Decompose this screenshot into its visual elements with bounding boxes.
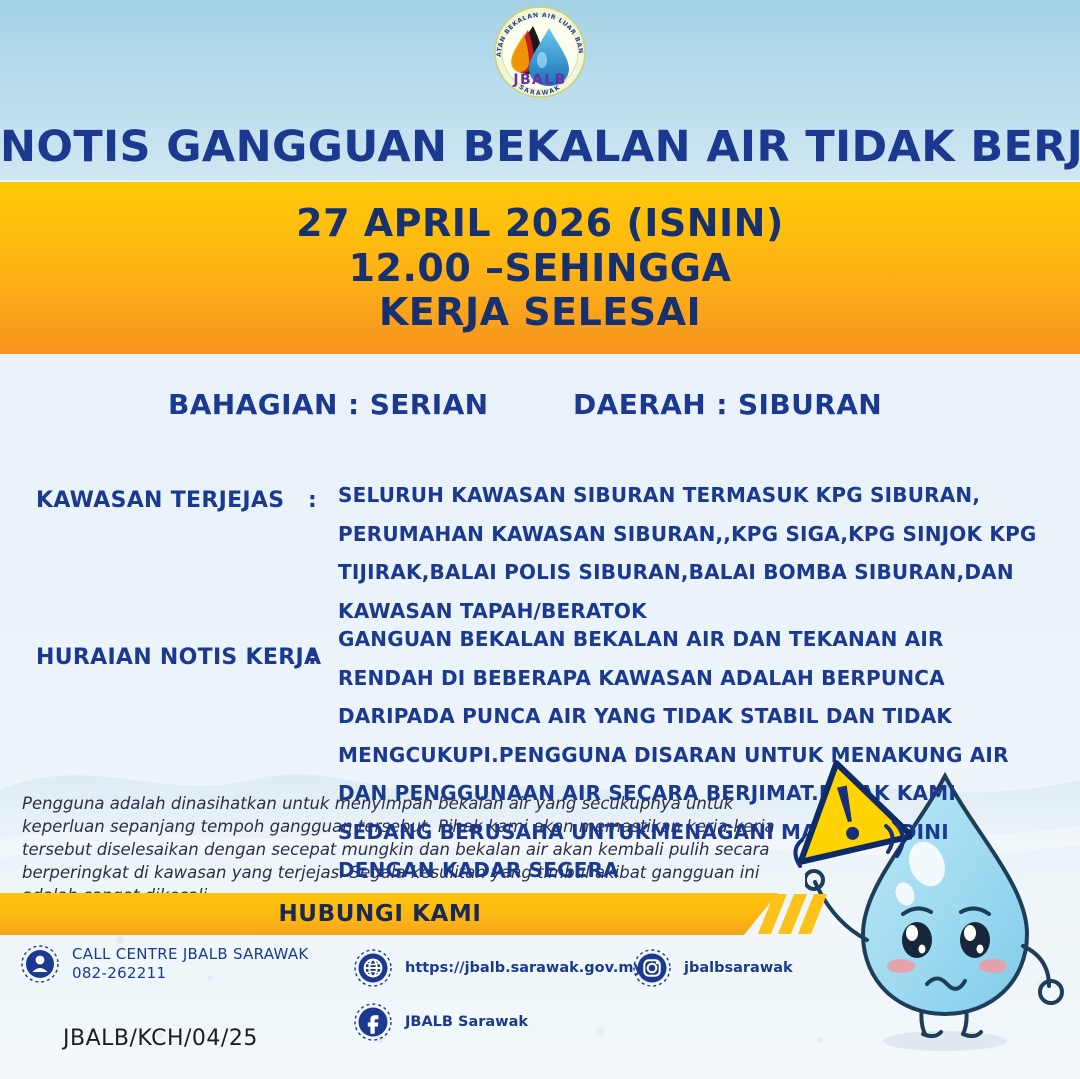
- date-line-1: 27 APRIL 2026 (ISNIN): [296, 201, 784, 246]
- instagram-icon: [632, 948, 672, 988]
- contact-facebook-text: JBALB Sarawak: [405, 1014, 528, 1030]
- contact-banner-label: HUBUNGI KAMI: [0, 893, 760, 935]
- facebook-icon: [353, 1002, 393, 1042]
- affected-area-line: SELURUH KAWASAN SIBURAN TERMASUK KPG SIB…: [338, 476, 1037, 515]
- reference-code: JBALB/KCH/04/25: [63, 1026, 258, 1051]
- work-description-colon: :: [308, 645, 317, 670]
- affected-area-colon: :: [308, 488, 317, 513]
- contact-banner: HUBUNGI KAMI: [0, 893, 1080, 935]
- contact-facebook[interactable]: JBALB Sarawak: [353, 1002, 528, 1042]
- work-description-line: DARIPADA PUNCA AIR YANG TIDAK STABIL DAN…: [338, 697, 1009, 736]
- affected-area-lines: SELURUH KAWASAN SIBURAN TERMASUK KPG SIB…: [338, 476, 1037, 630]
- warning-triangle-icon: [782, 754, 912, 874]
- contact-website-text: https://jbalb.sarawak.gov.my/: [405, 960, 648, 976]
- jbalb-sarawak-logo: JABATAN BEKALAN AIR LUAR BANDAR SARAWAK …: [487, 4, 593, 100]
- work-description-label: HURAIAN NOTIS KERJA: [36, 645, 321, 670]
- logo-center-text: JBALB: [512, 72, 566, 88]
- page-title: NOTIS GANGGUAN BEKALAN AIR TIDAK BERJADU…: [0, 122, 1080, 172]
- affected-area-label: KAWASAN TERJEJAS: [36, 488, 284, 513]
- contact-website[interactable]: https://jbalb.sarawak.gov.my/: [353, 948, 648, 988]
- globe-icon: [353, 948, 393, 988]
- contact-line-2: 082-262211: [72, 964, 309, 983]
- date-line-2: 12.00 –SEHINGGA: [349, 246, 732, 291]
- contact-line-1: CALL CENTRE JBALB SARAWAK: [72, 945, 309, 964]
- date-line-3: KERJA SELESAI: [379, 290, 701, 335]
- date-time-banner: 27 APRIL 2026 (ISNIN) 12.00 –SEHINGGA KE…: [0, 182, 1080, 354]
- affected-area-line: PERUMAHAN KAWASAN SIBURAN,,KPG SIGA,KPG …: [338, 515, 1037, 554]
- contact-instagram-text: jbalbsarawak: [684, 960, 793, 976]
- work-description-line: RENDAH DI BEBERAPA KAWASAN ADALAH BERPUN…: [338, 659, 1009, 698]
- region-row: BAHAGIAN : SERIAN DAERAH : SIBURAN: [0, 388, 1080, 432]
- contact-call-centre-text: CALL CENTRE JBALB SARAWAK 082-262211: [72, 945, 309, 983]
- water-disruption-notice-poster: JABATAN BEKALAN AIR LUAR BANDAR SARAWAK …: [0, 0, 1080, 1079]
- contact-instagram[interactable]: jbalbsarawak: [632, 948, 793, 988]
- work-description-line: GANGUAN BEKALAN BEKALAN AIR DAN TEKANAN …: [338, 620, 1009, 659]
- bahagian-label: BAHAGIAN : SERIAN: [168, 388, 489, 421]
- contact-call-centre[interactable]: CALL CENTRE JBALB SARAWAK 082-262211: [20, 944, 309, 984]
- person-icon: [20, 944, 60, 984]
- daerah-label: DAERAH : SIBURAN: [573, 388, 882, 421]
- affected-area-line: TIJIRAK,BALAI POLIS SIBURAN,BALAI BOMBA …: [338, 553, 1037, 592]
